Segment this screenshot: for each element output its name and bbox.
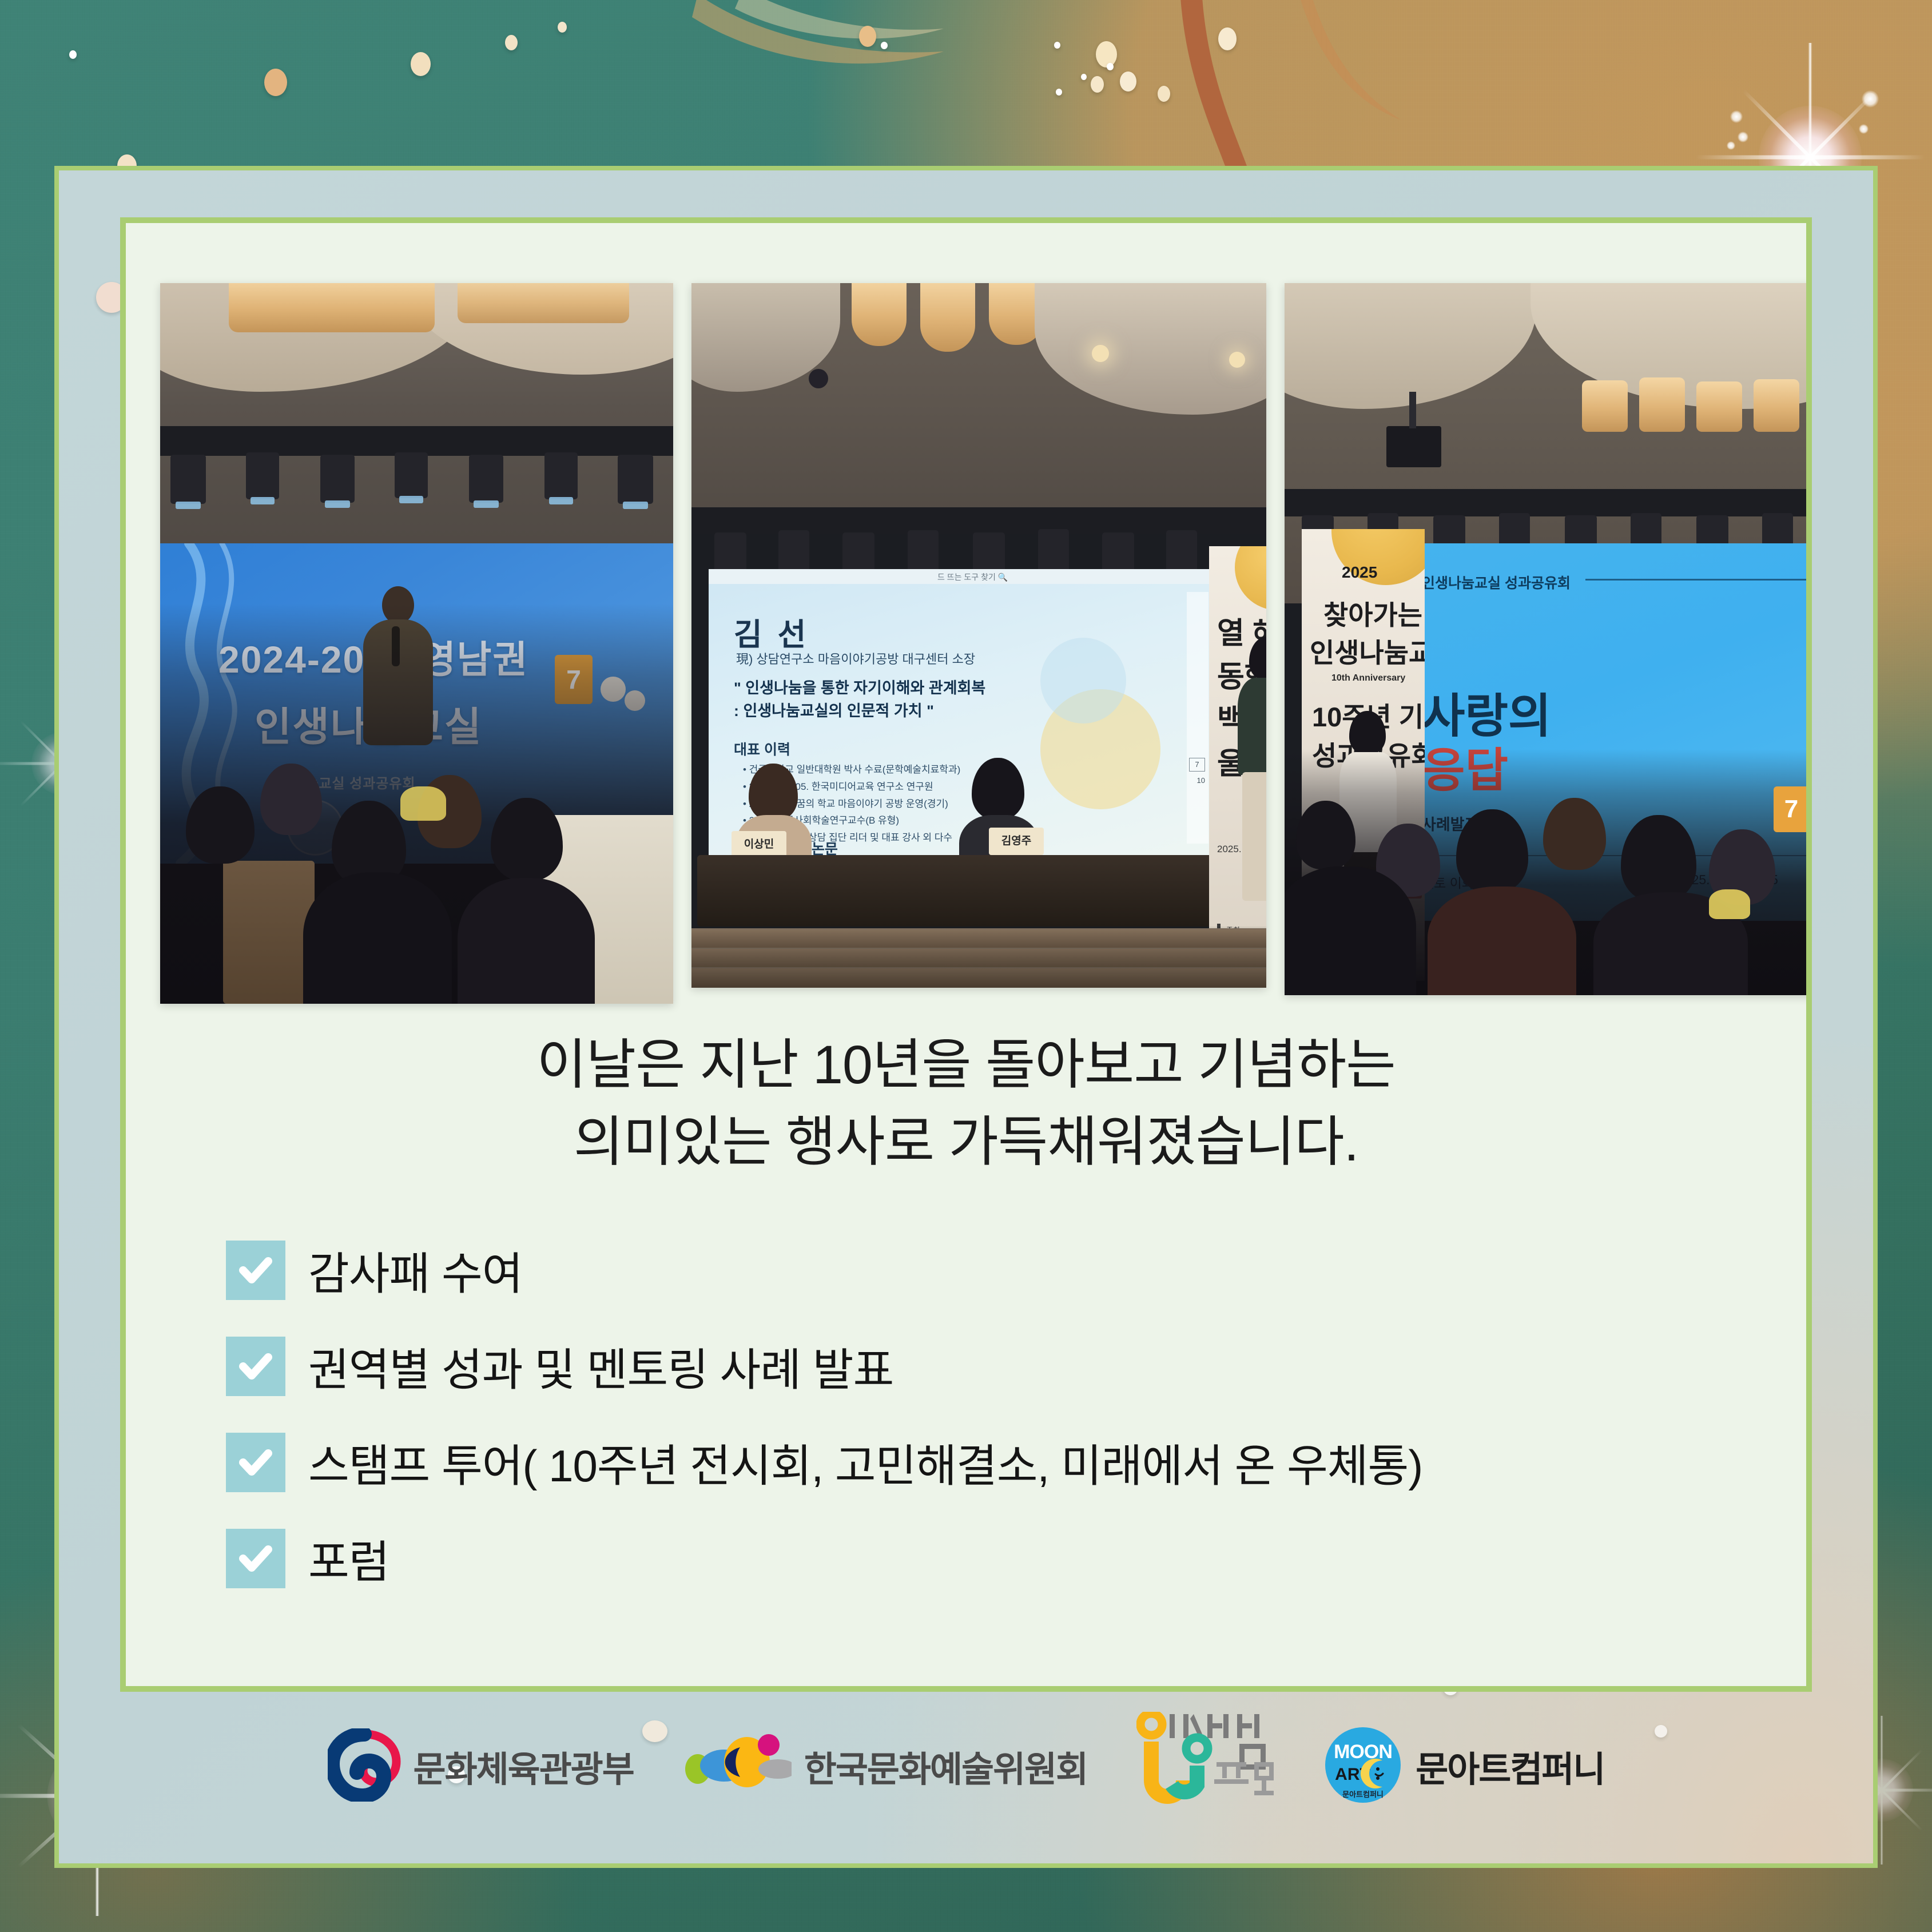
confetti-dot (859, 26, 876, 47)
check-icon (226, 1241, 285, 1300)
lead-paragraph: 이날은 지난 10년을 돌아보고 기념하는 의미있는 행사로 가득채워졌습니다. (126, 1027, 1806, 1181)
photo-strip: 2024-2025 영남권 인생나눔교실 성과공유회 무대 발표 장면 (160, 283, 1806, 1004)
confetti-dot (1218, 27, 1237, 50)
taegeuk-icon (328, 1728, 401, 1804)
confetti-dot (264, 69, 287, 96)
check-icon (226, 1529, 285, 1588)
logo-insaeng-nanum (1136, 1712, 1274, 1820)
confetti-dot (881, 42, 888, 49)
panelist-nameplate-left: 이상민 (732, 831, 786, 858)
banner-year: 2025 (1342, 563, 1377, 582)
slide-eyebrow: 인생나눔교실 성과공유회 (1422, 572, 1571, 593)
event-photo-1: 2024-2025 영남권 인생나눔교실 성과공유회 무대 발표 장면 (160, 283, 673, 1004)
slide-affiliation: 現) 상담연구소 마음이야기공방 대구센터 소장 (736, 649, 975, 667)
confetti-dot (1096, 41, 1117, 67)
checklist-item[interactable]: 포럼 (226, 1526, 1772, 1591)
card-news-canvas: 2024-2025 영남권 인생나눔교실 성과공유회 무대 발표 장면 (0, 0, 1932, 1932)
confetti-dot (1091, 76, 1104, 93)
check-icon (226, 1433, 285, 1492)
sponsor-logo-bar: 문화체육관광부 한국문화예술위원회 (126, 1700, 1806, 1832)
moonart-icon: MOON ART 문아트컴퍼니 (1323, 1725, 1403, 1808)
event-photo-3: 2025 찾아가는 인생나눔교실 10주년 기념 성과공유회 사례발표 (1285, 283, 1806, 995)
logo-moonart: MOON ART 문아트컴퍼니 문아트컴퍼니 (1323, 1725, 1604, 1808)
check-icon (226, 1337, 285, 1396)
checklist-label: 권역별 성과 및 멘토링 사례 발표 (308, 1334, 893, 1398)
banner-anniversary-tag: 10th Anniversary (1331, 673, 1405, 683)
svg-text:MOON: MOON (1334, 1741, 1392, 1763)
logo-arko: 한국문화예술위원회 (683, 1734, 1087, 1799)
moonart-badge-sub: 문아트컴퍼니 (1342, 1790, 1384, 1799)
checklist-label: 스탬프 투어( 10주년 전시회, 고민해결소, 미래에서 온 우체통) (308, 1430, 1422, 1494)
banner-line-1: 찾아가는 (1323, 593, 1422, 633)
slide-topic-1: " 인생나눔을 통한 자기이해와 관계회복 (734, 675, 985, 698)
checklist-item[interactable]: 스탬프 투어( 10주년 전시회, 고민해결소, 미래에서 온 우체통) (226, 1430, 1772, 1494)
confetti-dot (1158, 86, 1170, 102)
confetti-dot (411, 52, 431, 76)
event-photo-2: 김 선 강연자 소개 슬라이드와 패널 토론 장면 (691, 283, 1266, 988)
checklist-label: 포럼 (308, 1526, 389, 1591)
insaeng-nanum-icon (1136, 1712, 1274, 1820)
checklist-item[interactable]: 권역별 성과 및 멘토링 사례 발표 (226, 1334, 1772, 1398)
confetti-dot (558, 22, 567, 33)
slide-speaker-name: 김 선 (734, 609, 809, 654)
checklist-item[interactable]: 감사패 수여 (226, 1238, 1772, 1302)
highlights-checklist: 감사패 수여 권역별 성과 및 멘토링 사례 발표 스탬프 투어( 10주년 전… (226, 1238, 1772, 1591)
lead-line-2: 의미있는 행사로 가득채워졌습니다. (126, 1104, 1806, 1181)
confetti-dot (505, 35, 518, 50)
logo-label-arko: 한국문화예술위원회 (804, 1740, 1087, 1792)
lead-line-1: 이날은 지난 10년을 돌아보고 기념하는 (536, 1035, 1395, 1095)
banner-year: 2025. (1217, 844, 1242, 855)
logo-label-mcst: 문화체육관광부 (414, 1740, 634, 1792)
content-card: 2024-2025 영남권 인생나눔교실 성과공유회 무대 발표 장면 (126, 223, 1806, 1686)
confetti-dot (1120, 71, 1136, 92)
logo-mcst: 문화체육관광부 (328, 1728, 634, 1804)
confetti-dot (1054, 42, 1060, 49)
checklist-label: 감사패 수여 (308, 1238, 522, 1302)
table-number-sign: 7 (1774, 786, 1806, 832)
arko-icon (683, 1734, 792, 1799)
banner-line-2: 인생나눔교실 (1310, 631, 1425, 670)
confetti-dot (1107, 63, 1114, 70)
confetti-dot (1056, 89, 1062, 96)
confetti-dot (1081, 74, 1087, 80)
logo-label-moonart: 문아트컴퍼니 (1416, 1740, 1604, 1792)
panelist-nameplate-right: 김영주 (989, 828, 1044, 855)
confetti-dot (69, 50, 77, 59)
